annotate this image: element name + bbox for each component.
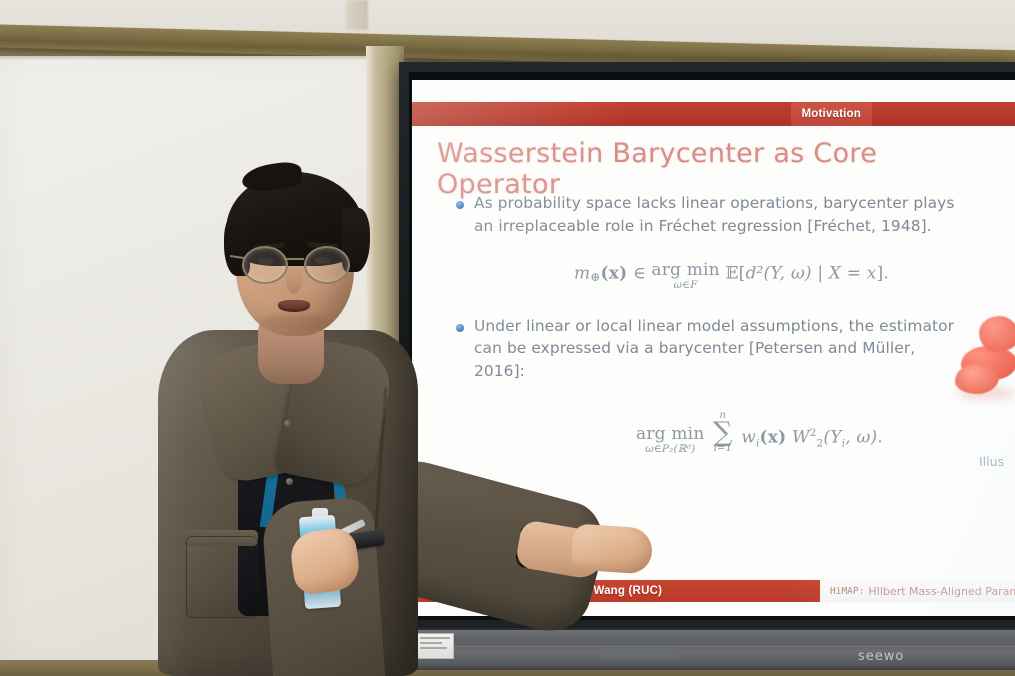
slide-footer-expansion: HIlbert Mass-Aligned Parameterization bbox=[868, 585, 1015, 598]
glasses-bridge bbox=[284, 258, 304, 260]
mouth bbox=[278, 300, 310, 312]
blob-part-b bbox=[979, 316, 1015, 352]
bullet-text-2: Under linear or local linear model assum… bbox=[474, 315, 961, 383]
eq1-argmin-label: arg min bbox=[651, 262, 719, 279]
presenter bbox=[120, 148, 540, 676]
eq2-dist: W bbox=[792, 427, 810, 447]
jacket-pocket bbox=[186, 536, 258, 618]
eq2-argmin-label: arg min bbox=[636, 426, 704, 443]
eq1-body: d²(Y, ω) | X = x bbox=[745, 264, 876, 284]
eq1-punct: . bbox=[883, 264, 889, 284]
bullet-text-1: As probability space lacks linear operat… bbox=[474, 192, 961, 237]
eq2-weight: w bbox=[741, 427, 756, 447]
jacket-button bbox=[284, 420, 291, 427]
eq1-body-open: 𝔼[ bbox=[725, 264, 745, 284]
red-distribution-blob-icon bbox=[957, 302, 1015, 402]
eq1-lhs-arg: (x) bbox=[601, 264, 628, 284]
slide-footer-acronym: HiMAP: bbox=[830, 586, 864, 597]
presenter-hand-open bbox=[570, 523, 653, 574]
eq2-dist-arg: (Y bbox=[823, 427, 841, 447]
eq2-sum-lower: i=1 bbox=[713, 444, 732, 454]
eq2-argmin-sub: ω∈P₂(ℝᵈ) bbox=[636, 444, 704, 455]
eq1-relation: ∈ bbox=[633, 264, 646, 284]
eq2-argmin: arg min ω∈P₂(ℝᵈ) bbox=[636, 426, 704, 455]
whiteboard-top-edge bbox=[0, 56, 392, 60]
slide-header-bar bbox=[412, 102, 1015, 126]
illustration-caption: Illus bbox=[979, 454, 1013, 469]
chin-shadow bbox=[260, 314, 330, 330]
glasses-lens-right bbox=[304, 246, 350, 284]
eq2-punct: . bbox=[877, 427, 883, 447]
eq2-dist-sup: 2 bbox=[810, 427, 817, 439]
eq1-lhs: m bbox=[574, 264, 590, 284]
eq2-dist-arg-rest: , ω) bbox=[845, 427, 877, 447]
seewo-brand-logo: seewo bbox=[858, 649, 904, 664]
display-bezel-port-panel bbox=[600, 650, 678, 659]
screenshot-scene: Motivation Wasserstein Barycenter as Cor… bbox=[0, 0, 1015, 676]
eq2-sum-symbol: ∑ bbox=[713, 421, 732, 444]
jacket-button bbox=[286, 478, 293, 485]
eq2-weight-arg: (x) bbox=[760, 427, 787, 447]
eq1-argmin-sub: ω∈F bbox=[651, 280, 719, 291]
eq1-lhs-sub: ⊕ bbox=[590, 270, 600, 284]
background-pillar bbox=[346, 0, 368, 30]
eq2-summation: n ∑ i=1 bbox=[713, 411, 732, 454]
slide-section-tab: Motivation bbox=[791, 102, 873, 126]
nose bbox=[286, 266, 302, 294]
eq1-argmin: arg min ω∈F bbox=[651, 262, 719, 291]
slide-footer-title: HiMAP: HIlbert Mass-Aligned Parameteriza… bbox=[820, 580, 1015, 602]
glasses-lens-left bbox=[242, 246, 288, 284]
